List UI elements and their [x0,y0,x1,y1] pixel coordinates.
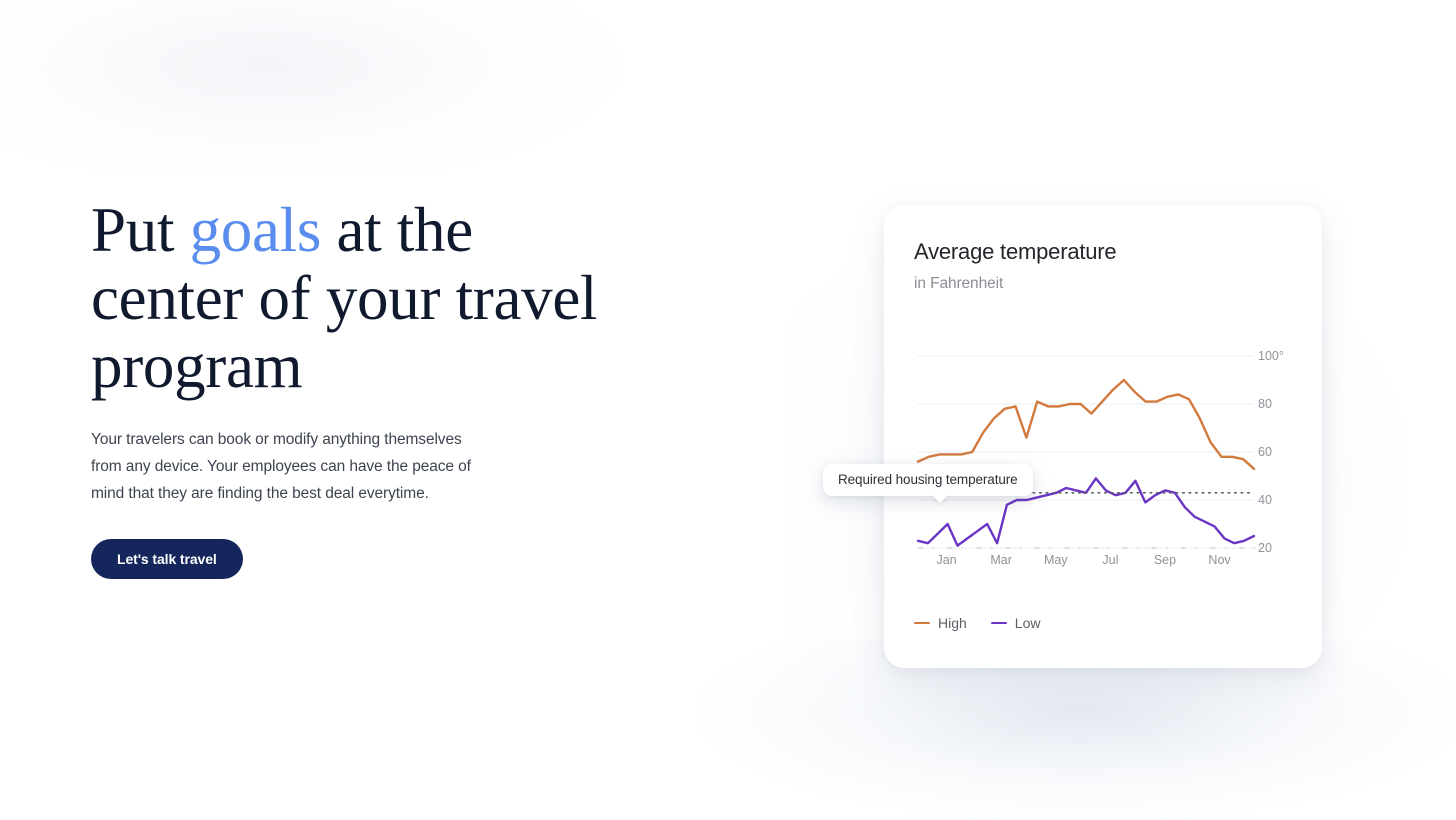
y-axis-tick: 40 [1258,493,1272,507]
temperature-chart-card: Average temperature in Fahrenheit 100°80… [884,205,1322,668]
page-title-part1: Put [91,195,190,265]
y-axis-tick: 60 [1258,445,1272,459]
x-axis-tick: Mar [990,553,1012,567]
legend-swatch-icon [914,622,930,625]
series-line-high [918,380,1254,469]
chart-legend: HighLow [914,615,1040,631]
x-axis-tick: Nov [1208,553,1230,567]
y-axis-tick: 20 [1258,541,1272,555]
x-axis-tick: Jul [1102,553,1118,567]
legend-item-low[interactable]: Low [991,615,1041,631]
y-axis-tick: 80 [1258,397,1272,411]
legend-swatch-icon [991,622,1007,625]
x-axis-tick: Jan [936,553,956,567]
page-title: Put goals at the center of your travel p… [91,196,631,400]
x-axis-tick: Sep [1154,553,1176,567]
legend-label: Low [1015,615,1041,631]
page-title-accent: goals [190,195,321,265]
legend-item-high[interactable]: High [914,615,967,631]
lets-talk-travel-button[interactable]: Let's talk travel [91,539,243,579]
y-axis-tick: 100° [1258,349,1284,363]
legend-label: High [938,615,967,631]
background-glow-top-left [0,0,640,170]
hero-section: Put goals at the center of your travel p… [91,196,691,579]
required-housing-temperature-tooltip: Required housing temperature [823,464,1033,496]
hero-description: Your travelers can book or modify anythi… [91,426,491,507]
chart-plot-area: 100°80604020 JanMarMayJulSepNov [884,205,1322,668]
x-axis-tick: May [1044,553,1068,567]
temperature-line-chart [884,205,1322,668]
